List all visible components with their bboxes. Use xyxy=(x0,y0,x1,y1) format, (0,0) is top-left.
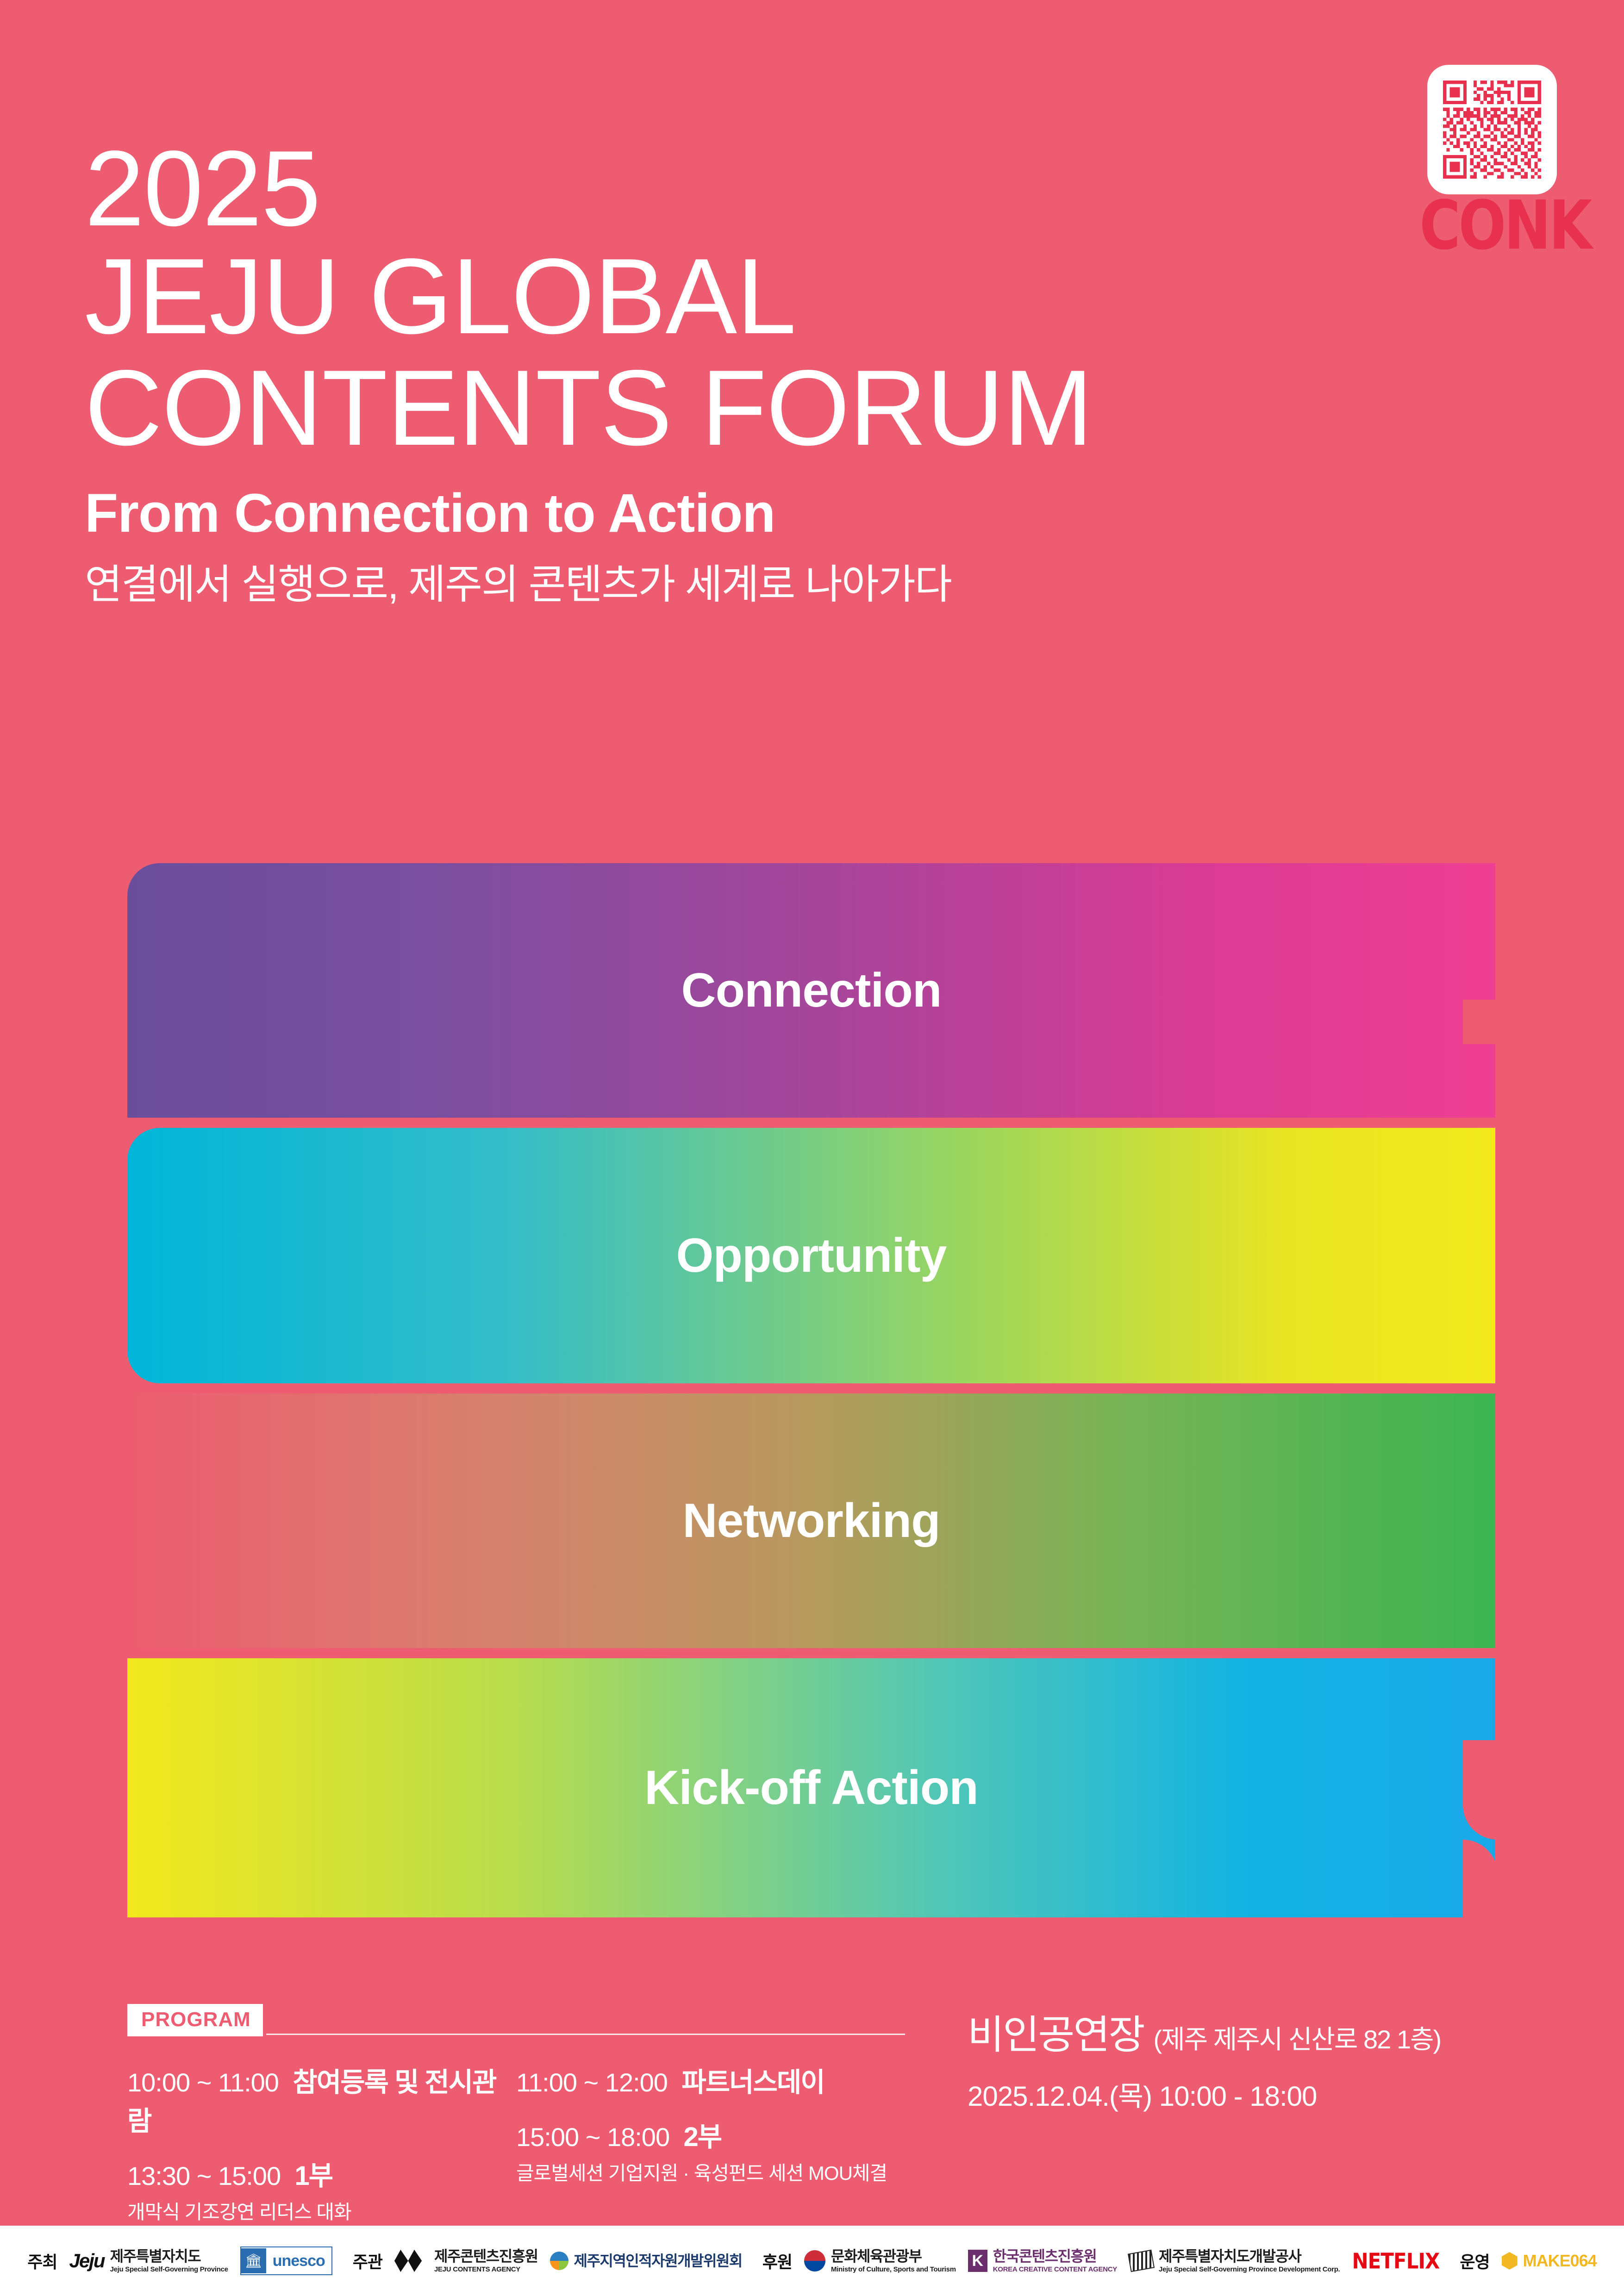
hrd-council-logo: 제주지역인적자원개발위원회 xyxy=(550,2252,742,2270)
theme-bar-networking[interactable]: Networking xyxy=(127,1394,1495,1648)
footer-logo-en: KOREA CREATIVE CONTENT AGENCY xyxy=(993,2266,1117,2273)
jeju-wordmark: Jeju xyxy=(69,2250,105,2272)
headline-contents: CONTENTS xyxy=(85,348,672,468)
program-title: 파트너스데이 xyxy=(681,2067,824,2097)
program-row: 15:00 ~ 18:00 2부 글로벌세션 기업지원 · 육성펀드 세션 MO… xyxy=(516,2115,905,2186)
qr-block[interactable]: CONK xyxy=(1427,65,1557,239)
program-title: 2부 xyxy=(684,2122,722,2152)
footer-logo-en: JEJU CONTENTS AGENCY xyxy=(434,2266,538,2273)
theme-bar-connection[interactable]: Connection xyxy=(127,863,1495,1118)
theme-bar-kickoff-action[interactable]: Kick-off Action xyxy=(127,1658,1495,1917)
footer-logo-kr: unesco xyxy=(266,2252,331,2270)
qr-code-icon xyxy=(1443,81,1541,179)
bar-notch-decoration xyxy=(1463,1000,1500,1044)
program-section: PROGRAM 10:00 ~ 11:00 참여등록 및 전시관람 13:30 … xyxy=(127,2004,905,2240)
jdc-text-stack: 제주특별자치도개발공사 Jeju Special Self-Governing … xyxy=(1159,2249,1340,2273)
footer-role-label: 주최 xyxy=(27,2249,57,2273)
jca-logo: 제주콘텐츠진흥원 JEJU CONTENTS AGENCY xyxy=(394,2249,538,2273)
headline-line-2: JEJU GLOBAL xyxy=(85,241,1335,352)
make064-logo: MAKE064 xyxy=(1502,2251,1597,2271)
program-time: 11:00 ~ 12:00 xyxy=(516,2068,668,2097)
unesco-temple-icon: 🏛 xyxy=(241,2248,266,2273)
footer-logo-kr: 제주특별자치도 xyxy=(110,2249,228,2264)
kocca-text-stack: 한국콘텐츠진흥원 KOREA CREATIVE CONTENT AGENCY xyxy=(993,2249,1117,2273)
program-time: 15:00 ~ 18:00 xyxy=(516,2122,669,2152)
footer-group-operator: 운영 MAKE064 xyxy=(1460,2249,1596,2273)
headline-korean-subtitle: 연결에서 실행으로, 제주의 콘텐츠가 세계로 나아가다 xyxy=(85,558,1335,611)
program-row: 10:00 ~ 11:00 참여등록 및 전시관람 xyxy=(127,2060,516,2138)
program-heading: PROGRAM xyxy=(127,2004,263,2036)
program-column-right: 11:00 ~ 12:00 파트너스데이 15:00 ~ 18:00 2부 글로… xyxy=(516,2060,905,2240)
theme-bar-label: Opportunity xyxy=(676,1228,946,1283)
jca-text-stack: 제주콘텐츠진흥원 JEJU CONTENTS AGENCY xyxy=(434,2249,538,2273)
footer-group-host: 주최 Jeju 제주특별자치도 Jeju Special Self-Govern… xyxy=(27,2246,332,2275)
hrd-mark-icon xyxy=(550,2252,568,2270)
jca-mark-icon xyxy=(394,2250,429,2272)
headline-forum: FORUM xyxy=(701,348,1093,468)
program-title: 1부 xyxy=(295,2161,333,2191)
venue-datetime: 2025.12.04.(목) 10:00 - 18:00 xyxy=(968,2074,1546,2114)
program-column-left: 10:00 ~ 11:00 참여등록 및 전시관람 13:30 ~ 15:00 … xyxy=(127,2060,516,2240)
make064-hex-icon xyxy=(1502,2252,1518,2270)
venue-line: 비인공연장 (제주 제주시 신산로 82 1층) xyxy=(968,2013,1546,2057)
program-row: 11:00 ~ 12:00 파트너스데이 xyxy=(516,2060,905,2099)
conk-logo-text: CONK xyxy=(1419,200,1565,253)
program-subtitle: 개막식 기조강연 리더스 대화 xyxy=(127,2196,516,2225)
theme-bars: Connection Opportunity Networking Kick-o… xyxy=(0,863,1624,1930)
footer-group-organizer: 주관 제주콘텐츠진흥원 JEJU CONTENTS AGENCY 제주지역인적자… xyxy=(353,2249,742,2273)
footer-logo-en: Jeju Special Self-Governing Province xyxy=(110,2266,228,2273)
venue-section: 비인공연장 (제주 제주시 신산로 82 1층) 2025.12.04.(목) … xyxy=(968,2013,1546,2114)
jdc-mark-icon xyxy=(1128,2250,1155,2272)
program-header: PROGRAM xyxy=(127,2004,905,2035)
program-subtitle: 글로벌세션 기업지원 · 육성펀드 세션 MOU체결 xyxy=(516,2158,905,2186)
headline-year: 2025 xyxy=(85,139,1335,239)
jeju-text-stack: 제주특별자치도 Jeju Special Self-Governing Prov… xyxy=(110,2249,228,2273)
poster-canvas: CONK 2025 JEJU GLOBAL CONTENTS FORUM Fro… xyxy=(0,0,1624,2296)
theme-bar-opportunity[interactable]: Opportunity xyxy=(127,1128,1495,1383)
kocca-logo: K 한국콘텐츠진흥원 KOREA CREATIVE CONTENT AGENCY xyxy=(968,2249,1117,2273)
unesco-logo: 🏛 unesco xyxy=(240,2246,332,2275)
headline-tagline: From Connection to Action xyxy=(85,479,1335,548)
qr-card[interactable] xyxy=(1427,65,1557,194)
footer-logo-kr: 한국콘텐츠진흥원 xyxy=(993,2249,1117,2264)
footer-logo-bar: 주최 Jeju 제주특별자치도 Jeju Special Self-Govern… xyxy=(0,2226,1624,2296)
footer-role-label: 운영 xyxy=(1460,2249,1489,2273)
footer-logo-kr: MAKE064 xyxy=(1523,2251,1597,2271)
headline-line-3: CONTENTS FORUM xyxy=(85,352,1335,464)
program-divider xyxy=(266,2034,905,2035)
footer-role-label: 후원 xyxy=(762,2249,792,2273)
jdc-logo: 제주특별자치도개발공사 Jeju Special Self-Governing … xyxy=(1129,2249,1340,2273)
venue-address: (제주 제주시 신산로 82 1층) xyxy=(1154,2025,1441,2054)
program-time: 13:30 ~ 15:00 xyxy=(127,2161,281,2190)
footer-logo-kr: 제주지역인적자원개발위원회 xyxy=(574,2253,742,2268)
mcst-logo: 문화체육관광부 Ministry of Culture, Sports and … xyxy=(804,2249,956,2273)
footer-logo-kr: 제주특별자치도개발공사 xyxy=(1159,2249,1340,2264)
kocca-k-icon: K xyxy=(968,2250,987,2272)
footer-logo-en: Ministry of Culture, Sports and Tourism xyxy=(831,2266,956,2273)
jeju-logo: Jeju 제주특별자치도 Jeju Special Self-Governing… xyxy=(69,2249,228,2273)
program-grid: 10:00 ~ 11:00 참여등록 및 전시관람 13:30 ~ 15:00 … xyxy=(127,2060,905,2240)
mcst-text-stack: 문화체육관광부 Ministry of Culture, Sports and … xyxy=(831,2249,956,2273)
program-time: 10:00 ~ 11:00 xyxy=(127,2068,279,2097)
theme-bar-label: Connection xyxy=(681,963,942,1018)
footer-logo-kr: 문화체육관광부 xyxy=(831,2249,956,2264)
program-row: 13:30 ~ 15:00 1부 개막식 기조강연 리더스 대화 xyxy=(127,2154,516,2225)
footer-role-label: 주관 xyxy=(353,2249,382,2273)
venue-name: 비인공연장 xyxy=(968,2013,1144,2057)
footer-group-sponsor: 후원 문화체육관광부 Ministry of Culture, Sports a… xyxy=(762,2249,1440,2273)
theme-bar-label: Networking xyxy=(682,1493,940,1549)
netflix-logo: NETFLIX xyxy=(1352,2248,1439,2273)
footer-logo-kr: 제주콘텐츠진흥원 xyxy=(434,2249,538,2264)
footer-logo-en: Jeju Special Self-Governing Province Dev… xyxy=(1159,2266,1340,2273)
theme-bar-label: Kick-off Action xyxy=(644,1761,978,1816)
taegeuk-icon xyxy=(804,2250,825,2271)
headline-block: 2025 JEJU GLOBAL CONTENTS FORUM From Con… xyxy=(85,139,1335,611)
